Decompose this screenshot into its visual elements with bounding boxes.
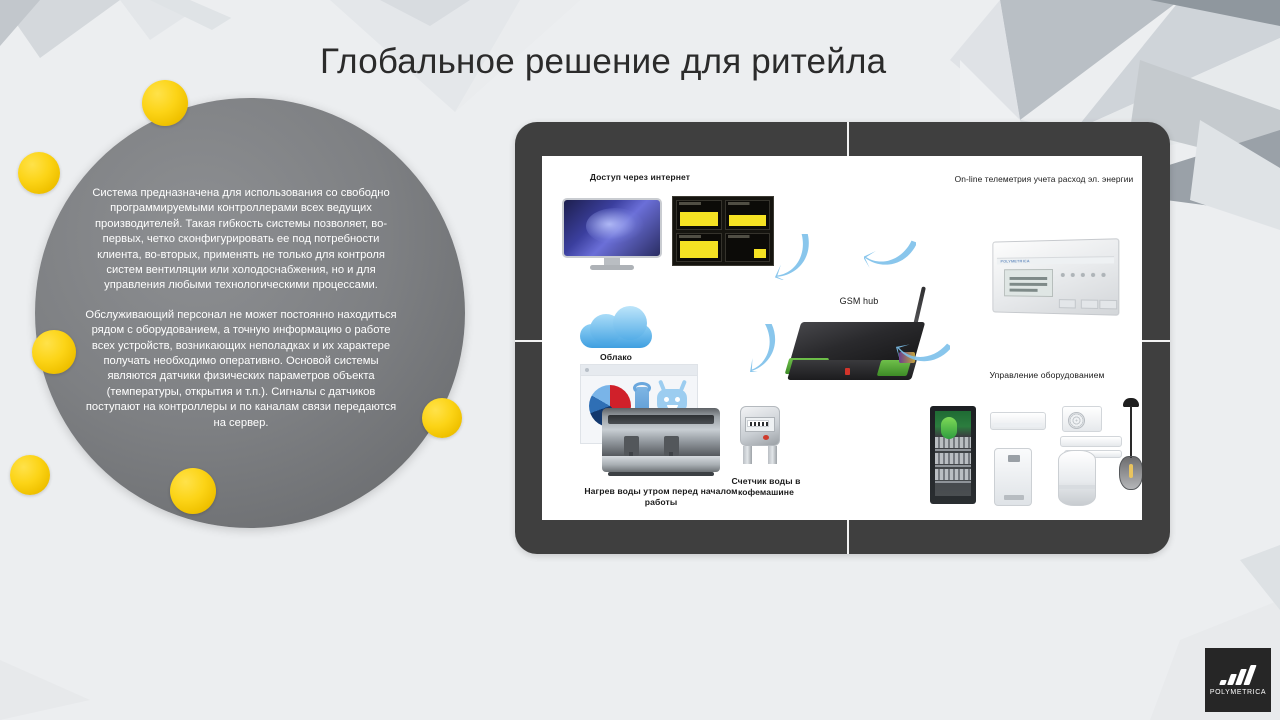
- flow-arrow-1: [767, 234, 819, 280]
- yellow-dot-4: [10, 455, 50, 495]
- diagram-label-cloud: Облако: [578, 352, 654, 363]
- body-text-block: Система предназначена для использования …: [80, 186, 402, 431]
- polymetrica-logo: POLYMETRICA: [1205, 648, 1271, 712]
- logo-bars-icon: [1220, 665, 1256, 685]
- pendant-lamp-icon: [1118, 398, 1142, 498]
- yellow-dot-5: [170, 468, 216, 514]
- diagram-label-gsm-hub: GSM hub: [804, 296, 914, 307]
- air-conditioner-outdoor-unit-icon: [1062, 406, 1102, 432]
- page-title: Глобальное решение для ритейла: [320, 42, 960, 82]
- diagram-label-internet-access: Доступ через интернет: [560, 172, 720, 183]
- yellow-dot-3: [32, 330, 76, 374]
- body-paragraph-2: Обслуживающий персонал не может постоянн…: [80, 308, 402, 431]
- yellow-dot-6: [422, 398, 462, 438]
- diagram-label-water-counter: Счетчик воды в кофемашине: [720, 476, 812, 498]
- coffee-machine-icon: [602, 408, 720, 480]
- flow-arrow-4: [894, 324, 950, 372]
- logo-name: POLYMETRICA: [1210, 689, 1266, 696]
- dashboard-screenshot: [672, 196, 774, 266]
- yellow-dot-1: [142, 80, 188, 126]
- water-meter-icon: [738, 406, 782, 468]
- flow-arrow-3: [732, 324, 788, 372]
- air-conditioner-icon-2: [1060, 436, 1122, 447]
- air-conditioner-icon-1: [990, 412, 1046, 430]
- diagram-label-equipment-control: Управление оборудованием: [962, 370, 1132, 381]
- diagram-label-telemetry: On-line телеметрия учета расход эл. энер…: [938, 174, 1142, 185]
- diagram-label-water-heating: Нагрев воды утром перед началом работы: [580, 486, 742, 508]
- yellow-dot-2: [18, 152, 60, 194]
- flow-arrow-2: [864, 230, 916, 276]
- diagram-panel: Доступ через интернет Облако: [515, 122, 1170, 554]
- energy-meter-device: POLYMETRICA: [992, 238, 1119, 316]
- diagram-canvas: Доступ через интернет Облако: [542, 156, 1142, 520]
- body-paragraph-1: Система предназначена для использования …: [80, 186, 402, 294]
- water-heater-icon: [1058, 450, 1096, 506]
- slide: Глобальное решение для ритейла Система п…: [0, 0, 1280, 720]
- beverage-cooler-icon: [930, 406, 976, 504]
- desktop-monitor-icon: [562, 198, 662, 270]
- gas-boiler-icon: [994, 448, 1032, 506]
- cloud-icon: [580, 306, 652, 350]
